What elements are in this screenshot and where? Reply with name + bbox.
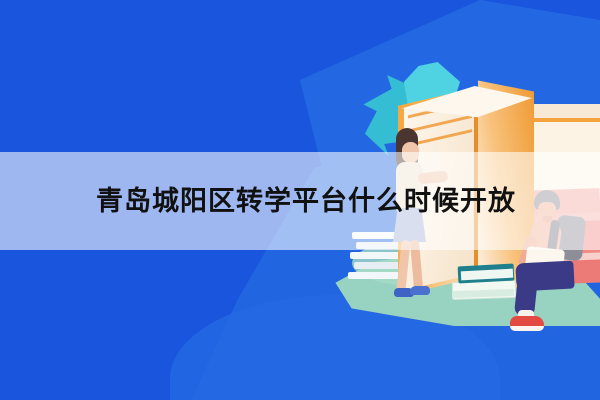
paper-sheet — [354, 262, 400, 269]
paper-sheet — [350, 252, 400, 259]
banner-image: 青岛城阳区转学平台什么时候开放 — [0, 0, 600, 400]
student-boy-shoe-sole — [510, 326, 544, 331]
title-band: 青岛城阳区转学平台什么时候开放 — [0, 152, 600, 250]
student-woman-shoe — [410, 286, 430, 295]
banner-title: 青岛城阳区转学平台什么时候开放 — [96, 188, 516, 215]
paper-sheet — [348, 272, 400, 279]
book-secondary-top — [524, 104, 600, 118]
